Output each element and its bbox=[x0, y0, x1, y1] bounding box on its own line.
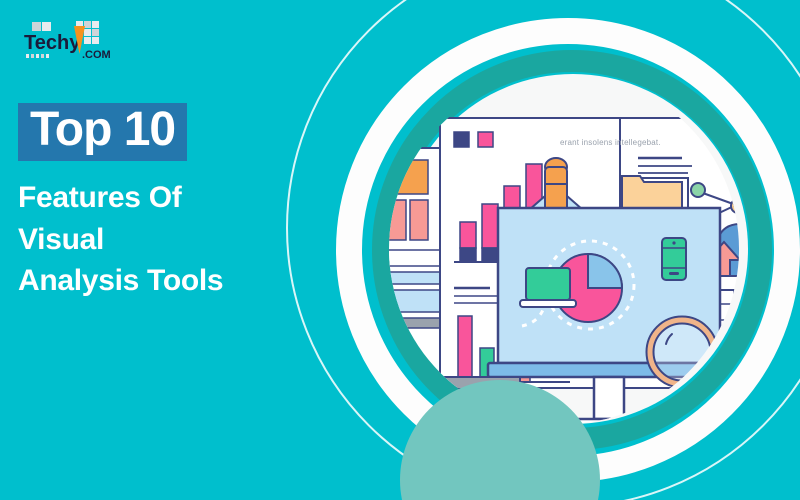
illustration-svg bbox=[330, 0, 800, 500]
subtitle-line-3: Analysis Tools bbox=[18, 260, 278, 301]
title-block: Top 10 Features Of Visual Analysis Tools bbox=[18, 103, 288, 302]
subtitle-line-1: Features Of bbox=[18, 177, 278, 218]
svg-text:.COM: .COM bbox=[82, 49, 111, 61]
page-title: Features Of Visual Analysis Tools bbox=[18, 177, 278, 301]
logo-svg: Techy .COM bbox=[18, 20, 122, 66]
svg-text:Techy: Techy bbox=[24, 32, 81, 54]
laptop-icon bbox=[520, 268, 576, 307]
smartphone-icon bbox=[662, 238, 686, 280]
techyv-logo[interactable]: Techy .COM bbox=[18, 20, 122, 66]
subtitle-line-2: Visual bbox=[18, 219, 278, 260]
illustration bbox=[330, 0, 800, 500]
banner-root: Techy .COM Top 10 Features Of Visual Ana… bbox=[0, 0, 800, 500]
bottom-teal-circle bbox=[400, 380, 600, 500]
illustration-caption: erant insolens intellegebat. bbox=[560, 138, 661, 147]
top10-badge: Top 10 bbox=[18, 103, 187, 161]
